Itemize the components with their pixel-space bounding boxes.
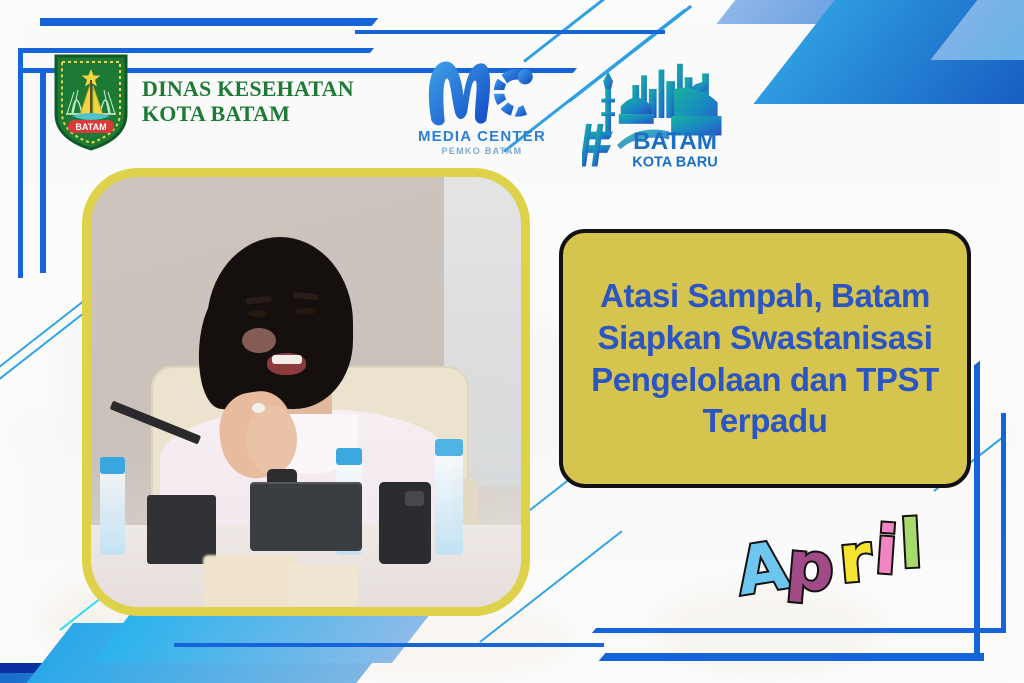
svg-text:KOTA BARU: KOTA BARU	[632, 154, 717, 170]
batam-city-crest-icon: BATAM	[52, 52, 130, 152]
meeting-photo	[91, 177, 521, 607]
logo-batam-kota-baru: BATAM KOTA BARU	[582, 56, 762, 170]
media-center-title: MEDIA CENTER	[407, 128, 557, 145]
april-letter-i: i	[873, 517, 900, 584]
svg-text:BATAM: BATAM	[75, 122, 106, 132]
logo-media-center: MEDIA CENTER PEMKO BATAM	[407, 54, 557, 156]
dinkes-line-1: DINAS KESEHATAN	[142, 77, 354, 102]
headline-box: Atasi Sampah, Batam Siapkan Swastanisasi…	[559, 229, 971, 488]
april-letter-p: p	[784, 532, 837, 602]
batam-kota-baru-skyline-icon: BATAM KOTA BARU	[582, 56, 737, 170]
dinas-kesehatan-label: DINAS KESEHATAN KOTA BATAM	[142, 77, 354, 126]
news-photo-card	[82, 168, 530, 616]
april-letter-r: r	[836, 525, 874, 594]
headline-text: Atasi Sampah, Batam Siapkan Swastanisasi…	[583, 275, 947, 441]
media-center-mc-monogram-icon	[407, 54, 557, 126]
logo-row: BATAM DINAS KESEHATAN KOTA BATAM	[52, 52, 1024, 172]
media-center-subtitle: PEMKO BATAM	[407, 146, 557, 156]
april-letter-l: l	[898, 511, 924, 578]
logo-dinas-kesehatan: BATAM DINAS KESEHATAN KOTA BATAM	[52, 52, 354, 152]
poster-canvas: BATAM DINAS KESEHATAN KOTA BATAM	[0, 0, 1024, 683]
month-badge-april: A p r i l	[735, 512, 935, 612]
svg-text:BATAM: BATAM	[633, 128, 717, 155]
dinkes-line-2: KOTA BATAM	[142, 102, 354, 127]
